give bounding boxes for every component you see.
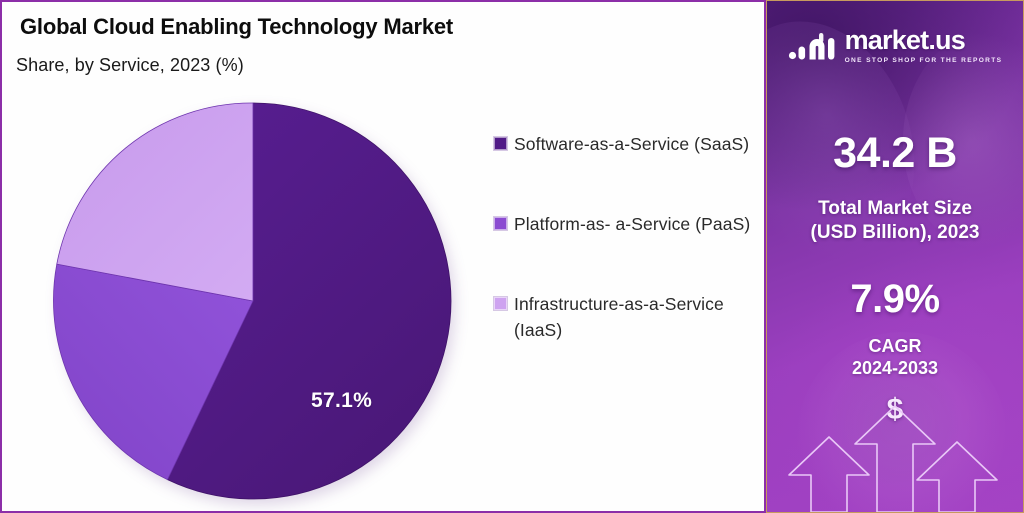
pie-chart: 57.1%: [53, 101, 453, 501]
chart-subtitle: Share, by Service, 2023 (%): [16, 55, 244, 76]
legend-swatch-icon-saas: [494, 137, 507, 150]
cagr-caption-line2: 2024-2033: [767, 357, 1023, 379]
logo-text-block: market.us ONE STOP SHOP FOR THE REPORTS: [845, 27, 1003, 64]
legend-item-paas[interactable]: Platform-as- a-Service (PaaS): [494, 212, 756, 238]
legend-item-iaas[interactable]: Infrastructure-as-a-Service (IaaS): [494, 292, 756, 344]
pie-slice-value-label: 57.1%: [311, 389, 372, 413]
chart-panel: Global Cloud Enabling Technology Market …: [0, 0, 766, 513]
page-title: Global Cloud Enabling Technology Market: [20, 14, 453, 40]
logo-wordmark: market.us: [845, 27, 965, 54]
legend-swatch-icon-paas: [494, 217, 507, 230]
legend-label-iaas: Infrastructure-as-a-Service (IaaS): [514, 292, 756, 344]
market-us-logo-icon: [788, 29, 838, 63]
market-size-caption-line2: (USD Billion), 2023: [767, 221, 1023, 245]
legend-label-saas: Software-as-a-Service (SaaS): [514, 132, 749, 158]
market-size-caption-line1: Total Market Size: [767, 197, 1023, 221]
pie-svg: [53, 101, 453, 501]
cagr-value: 7.9%: [767, 277, 1023, 322]
logo-tagline: ONE STOP SHOP FOR THE REPORTS: [845, 57, 1003, 64]
market-size-caption: Total Market Size (USD Billion), 2023: [767, 197, 1023, 244]
growth-arrows-icon: [767, 387, 1024, 512]
legend-swatch-icon-iaas: [494, 297, 507, 310]
brand-logo[interactable]: market.us ONE STOP SHOP FOR THE REPORTS: [767, 27, 1023, 64]
cagr-caption-line1: CAGR: [767, 335, 1023, 357]
market-size-value: 34.2 B: [767, 129, 1023, 178]
legend-item-saas[interactable]: Software-as-a-Service (SaaS): [494, 132, 756, 158]
legend: Software-as-a-Service (SaaS) Platform-as…: [494, 132, 756, 344]
stats-panel: market.us ONE STOP SHOP FOR THE REPORTS …: [766, 0, 1024, 513]
legend-label-paas: Platform-as- a-Service (PaaS): [514, 212, 750, 238]
cagr-caption: CAGR 2024-2033: [767, 335, 1023, 380]
infographic-canvas: Global Cloud Enabling Technology Market …: [0, 0, 1024, 513]
